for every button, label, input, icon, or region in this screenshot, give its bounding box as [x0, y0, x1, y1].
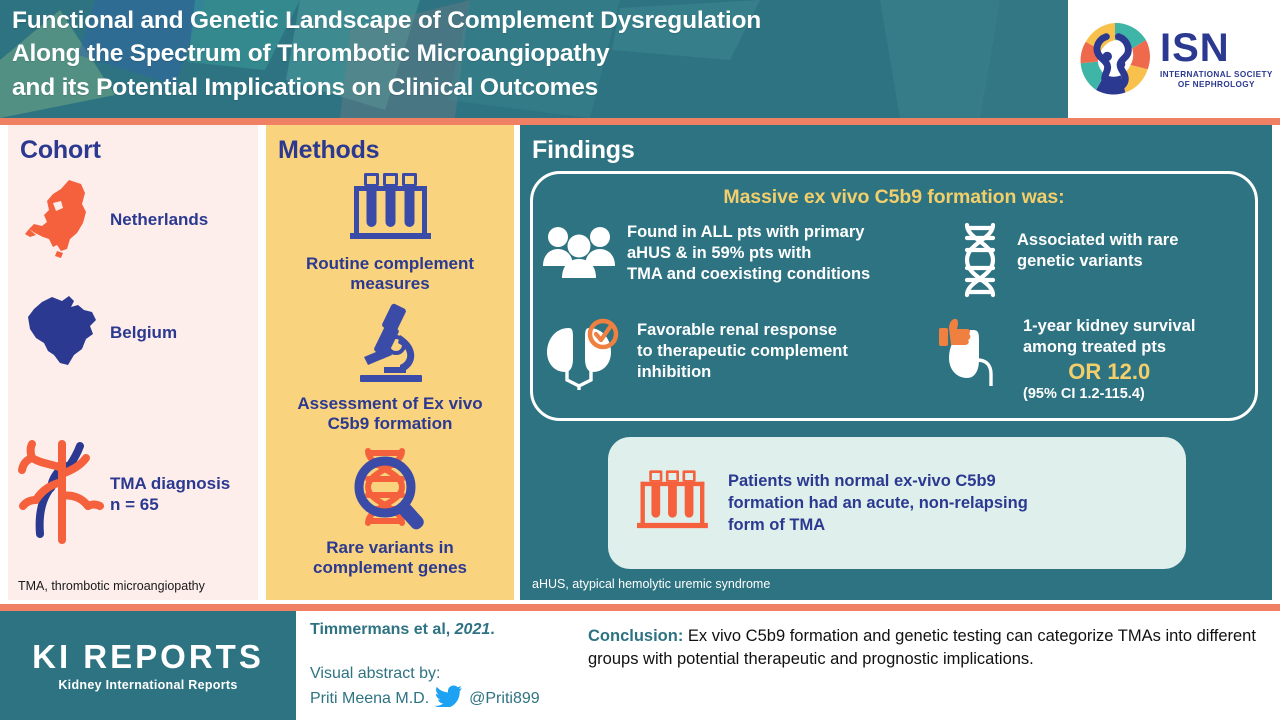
ki-reports-subtitle: Kidney International Reports: [58, 678, 237, 692]
citation-author: Timmermans et al,: [310, 621, 455, 638]
credit-block: Visual abstract by: Priti Meena M.D. @Pr…: [310, 663, 575, 713]
finding-3-line-1: Favorable renal response: [637, 320, 848, 341]
findings-panel: Findings Massive ex vivo C5b9 formation …: [520, 125, 1272, 600]
cohort-label-belgium: Belgium: [110, 323, 177, 344]
methods-heading: Methods: [278, 136, 514, 165]
cohort-label-tma-line2: n = 65: [110, 495, 230, 516]
methods-block-complement-measures: Routine complement measures: [266, 169, 514, 295]
findings-card-title: Massive ex vivo C5b9 formation was:: [533, 186, 1255, 209]
finding-4-line-1: 1-year kidney survival: [1023, 316, 1195, 337]
kidney-thumbs-up-icon: [937, 316, 1011, 395]
finding-4-confidence-interval: (95% CI 1.2-115.4): [1023, 386, 1195, 402]
finding-1-line-2: aHUS & in 59% pts with: [627, 243, 870, 264]
finding-item-kidney-survival: 1-year kidney survival among treated pts…: [937, 316, 1261, 402]
credit-label: Visual abstract by:: [310, 663, 575, 685]
methods-caption-2-line2: C5b9 formation: [276, 414, 504, 434]
methods-caption-1: Routine complement measures: [266, 254, 514, 295]
divider-bar-top: [0, 118, 1280, 125]
isn-logo: ISN INTERNATIONAL SOCIETY OF NEPHROLOGY: [1068, 0, 1280, 118]
dna-helix-icon: [957, 222, 1003, 303]
methods-block-c5b9-assessment: Assessment of Ex vivo C5b9 formation: [266, 303, 514, 435]
isn-logo-text: ISN INTERNATIONAL SOCIETY OF NEPHROLOGY: [1160, 29, 1273, 90]
methods-caption-2-line1: Assessment of Ex vivo: [276, 394, 504, 414]
cohort-label-tma-line1: TMA diagnosis: [110, 474, 230, 495]
conclusion-block: Conclusion: Ex vivo C5b9 formation and g…: [588, 625, 1272, 671]
findings-footnote: aHUS, atypical hemolytic uremic syndrome: [532, 577, 770, 592]
header-banner: Functional and Genetic Landscape of Comp…: [0, 0, 1280, 118]
ki-reports-name: KI REPORTS: [32, 640, 264, 673]
methods-caption-3: Rare variants in complement genes: [266, 538, 514, 579]
belgium-map-icon: [14, 293, 110, 374]
magnifier-dna-icon: [338, 445, 442, 531]
cohort-label-netherlands: Netherlands: [110, 210, 208, 231]
title-line-2: Along the Spectrum of Thrombotic Microan…: [12, 37, 1027, 70]
finding-2-line-2: genetic variants: [1017, 251, 1178, 272]
finding-item-renal-response: Favorable renal response to therapeutic …: [541, 318, 961, 395]
conclusion-text: Ex vivo C5b9 formation and genetic testi…: [588, 627, 1256, 668]
cohort-row-belgium: Belgium: [14, 293, 258, 374]
cohort-row-netherlands: Netherlands: [14, 177, 258, 264]
kidneys-check-icon: [541, 318, 625, 395]
finding-text-renal-response: Favorable renal response to therapeutic …: [637, 320, 848, 383]
citation-period: .: [490, 621, 494, 638]
cohort-label-tma: TMA diagnosis n = 65: [110, 474, 230, 515]
poster-title: Functional and Genetic Landscape of Comp…: [12, 4, 1027, 104]
visual-abstract-poster: Functional and Genetic Landscape of Comp…: [0, 0, 1280, 720]
title-line-3: and its Potential Implications on Clinic…: [12, 71, 1027, 104]
finding-item-prevalence: Found in ALL pts with primary aHUS & in …: [541, 222, 961, 285]
findings-heading: Findings: [532, 136, 1272, 165]
isn-subtitle-line-1: INTERNATIONAL SOCIETY: [1160, 70, 1273, 80]
test-tube-rack-icon: [342, 169, 438, 247]
citation-block: Timmermans et al, 2021. Visual abstract …: [310, 621, 575, 713]
isn-acronym: ISN: [1160, 29, 1273, 67]
methods-caption-3-line1: Rare variants in: [276, 538, 504, 558]
ki-reports-logo: KI REPORTS Kidney International Reports: [0, 611, 296, 720]
netherlands-map-icon: [14, 177, 110, 264]
cohort-panel: Cohort Netherlands: [8, 125, 258, 600]
cohort-row-tma: TMA diagnosis n = 65: [14, 440, 258, 549]
group-of-people-icon: [541, 222, 617, 285]
credit-handle-row: Priti Meena M.D. @Priti899: [310, 685, 575, 714]
finding-4-line-2: among treated pts: [1023, 337, 1195, 358]
methods-caption-2: Assessment of Ex vivo C5b9 formation: [266, 394, 514, 435]
mint-box-line-2: formation had an acute, non-relapsing: [728, 492, 1028, 514]
title-line-1: Functional and Genetic Landscape of Comp…: [12, 4, 1027, 37]
finding-2-line-1: Associated with rare: [1017, 230, 1178, 251]
methods-caption-1-line1: Routine complement: [276, 254, 504, 274]
footer: KI REPORTS Kidney International Reports …: [0, 611, 1280, 720]
citation-year: 2021: [455, 621, 491, 638]
findings-card: Massive ex vivo C5b9 formation was:: [530, 171, 1258, 421]
blood-vessel-icon: [14, 440, 110, 549]
credit-handle[interactable]: @Priti899: [469, 688, 540, 710]
finding-text-genetic-variants: Associated with rare genetic variants: [1017, 230, 1178, 272]
finding-4-text-lines: 1-year kidney survival among treated pts: [1023, 316, 1195, 358]
credit-name: Priti Meena M.D.: [310, 688, 429, 710]
methods-block-rare-variants: Rare variants in complement genes: [266, 445, 514, 579]
isn-subtitle: INTERNATIONAL SOCIETY OF NEPHROLOGY: [1160, 70, 1273, 90]
finding-3-line-3: inhibition: [637, 362, 848, 383]
panels-row: Cohort Netherlands: [0, 125, 1280, 600]
finding-item-genetic-variants: Associated with rare genetic variants: [957, 222, 1257, 303]
isn-subtitle-line-2: OF NEPHROLOGY: [1160, 80, 1273, 90]
methods-panel: Methods: [266, 125, 514, 600]
findings-mint-box-text: Patients with normal ex-vivo C5b9 format…: [728, 470, 1028, 536]
citation-reference: Timmermans et al, 2021.: [310, 621, 575, 639]
findings-grid: Found in ALL pts with primary aHUS & in …: [533, 220, 1261, 420]
finding-3-line-2: to therapeutic complement: [637, 341, 848, 362]
finding-1-line-3: TMA and coexisting conditions: [627, 264, 870, 285]
cohort-heading: Cohort: [20, 136, 258, 165]
twitter-bird-icon[interactable]: [435, 685, 463, 714]
finding-text-prevalence: Found in ALL pts with primary aHUS & in …: [627, 222, 870, 285]
finding-4-odds-ratio: OR 12.0: [1023, 359, 1195, 385]
cohort-footnote: TMA, thrombotic microangiopathy: [18, 579, 205, 594]
isn-circular-logo-icon: [1072, 16, 1158, 102]
conclusion-label: Conclusion:: [588, 627, 683, 645]
test-tube-rack-orange-icon: [630, 465, 714, 542]
methods-caption-1-line2: measures: [276, 274, 504, 294]
mint-box-line-3: form of TMA: [728, 514, 1028, 536]
finding-1-line-1: Found in ALL pts with primary: [627, 222, 870, 243]
mint-box-line-1: Patients with normal ex-vivo C5b9: [728, 470, 1028, 492]
finding-text-kidney-survival: 1-year kidney survival among treated pts…: [1023, 316, 1195, 402]
microscope-icon: [340, 303, 440, 387]
methods-caption-3-line2: complement genes: [276, 558, 504, 578]
divider-bar-bottom: [0, 604, 1280, 611]
findings-mint-box: Patients with normal ex-vivo C5b9 format…: [608, 437, 1186, 569]
